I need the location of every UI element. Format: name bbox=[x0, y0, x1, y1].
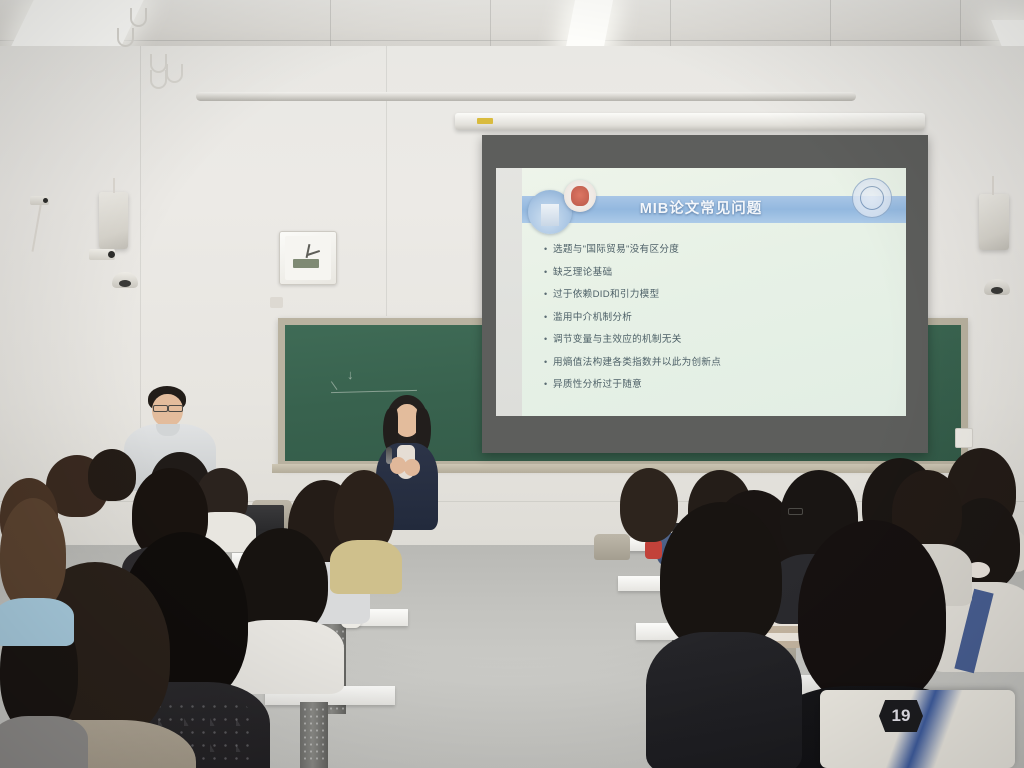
jacket-number-patch: 19 bbox=[879, 700, 923, 732]
list-item bbox=[88, 449, 136, 503]
list-item bbox=[334, 470, 394, 580]
slide-canvas: MIB论文常见问题 • 选题与"国际贸易"没有区分度 • 缺乏理论基础 • 过于… bbox=[496, 168, 906, 416]
red-sculpture-photo-bubble bbox=[564, 180, 596, 212]
chalk-marks: ↓ bbox=[347, 367, 354, 382]
slide-left-strip bbox=[496, 168, 522, 416]
eyeglasses bbox=[168, 405, 183, 412]
list-item: • 过于依赖DID和引力模型 bbox=[544, 289, 888, 300]
bullet-marker: • bbox=[544, 244, 553, 255]
desk-leg bbox=[300, 702, 328, 768]
bullet-text: 缺乏理论基础 bbox=[553, 267, 612, 278]
roller-screen-housing[interactable] bbox=[455, 113, 925, 130]
bullet-text: 选题与"国际贸易"没有区分度 bbox=[553, 244, 679, 255]
university-seal-emblem bbox=[852, 178, 892, 218]
handheld-microphone bbox=[386, 447, 392, 464]
bullet-marker: • bbox=[544, 289, 553, 300]
bullet-marker: • bbox=[544, 379, 553, 390]
slide-bullet-list: • 选题与"国际贸易"没有区分度 • 缺乏理论基础 • 过于依赖DID和引力模型… bbox=[544, 244, 888, 402]
housing-label bbox=[477, 118, 493, 124]
classroom-scene: ↓ MIB论文常见问题 • 选题与"国际贸易"没有区分度 • 缺乏理论基础 bbox=[0, 0, 1024, 768]
bullet-marker: • bbox=[544, 267, 553, 278]
bullet-marker: • bbox=[544, 312, 553, 323]
presenter-hand bbox=[404, 459, 420, 476]
wall-clock bbox=[279, 231, 337, 285]
list-item: • 滥用中介机制分析 bbox=[544, 312, 888, 323]
pipe-hook bbox=[130, 8, 147, 27]
pipe-hook bbox=[166, 64, 183, 83]
speaker-wire-left bbox=[113, 178, 115, 193]
list-item: • 选题与"国际贸易"没有区分度 bbox=[544, 244, 888, 255]
clock-digital-display bbox=[293, 259, 319, 268]
bullet-text: 异质性分析过于随意 bbox=[553, 379, 642, 390]
list-item: • 异质性分析过于随意 bbox=[544, 379, 888, 390]
dome-camera-left bbox=[112, 272, 138, 288]
ceiling bbox=[0, 0, 1024, 52]
speaker-wire-right bbox=[992, 176, 994, 195]
wall-speaker-left bbox=[99, 192, 128, 249]
dome-camera-right bbox=[984, 279, 1010, 295]
bullet-text: 调节变量与主效应的机制无关 bbox=[553, 334, 682, 345]
security-camera-left bbox=[89, 249, 115, 260]
bullet-text: 过于依赖DID和引力模型 bbox=[553, 289, 659, 300]
bullet-text: 滥用中介机制分析 bbox=[553, 312, 632, 323]
bullet-text: 用熵值法构建各类指数并以此为创新点 bbox=[553, 357, 721, 368]
projection-screen: MIB论文常见问题 • 选题与"国际贸易"没有区分度 • 缺乏理论基础 • 过于… bbox=[482, 135, 928, 453]
list-item bbox=[236, 528, 328, 678]
eyeglasses bbox=[153, 405, 168, 412]
bullet-marker: • bbox=[544, 357, 553, 368]
list-item bbox=[660, 502, 788, 768]
bullet-marker: • bbox=[544, 334, 553, 345]
list-item: • 用熵值法构建各类指数并以此为创新点 bbox=[544, 357, 888, 368]
wall-speaker-right bbox=[979, 194, 1009, 250]
light-switch[interactable] bbox=[955, 428, 973, 448]
security-camera-corner bbox=[30, 196, 49, 205]
list-item bbox=[0, 498, 66, 638]
pipe-hook bbox=[150, 70, 167, 89]
list-item: • 缺乏理论基础 bbox=[544, 267, 888, 278]
clock-bracket bbox=[270, 297, 283, 308]
list-item: • 调节变量与主效应的机制无关 bbox=[544, 334, 888, 345]
clock-face bbox=[285, 236, 331, 280]
pipe-hook bbox=[117, 28, 134, 47]
ceiling-pipe-rail bbox=[196, 92, 856, 101]
